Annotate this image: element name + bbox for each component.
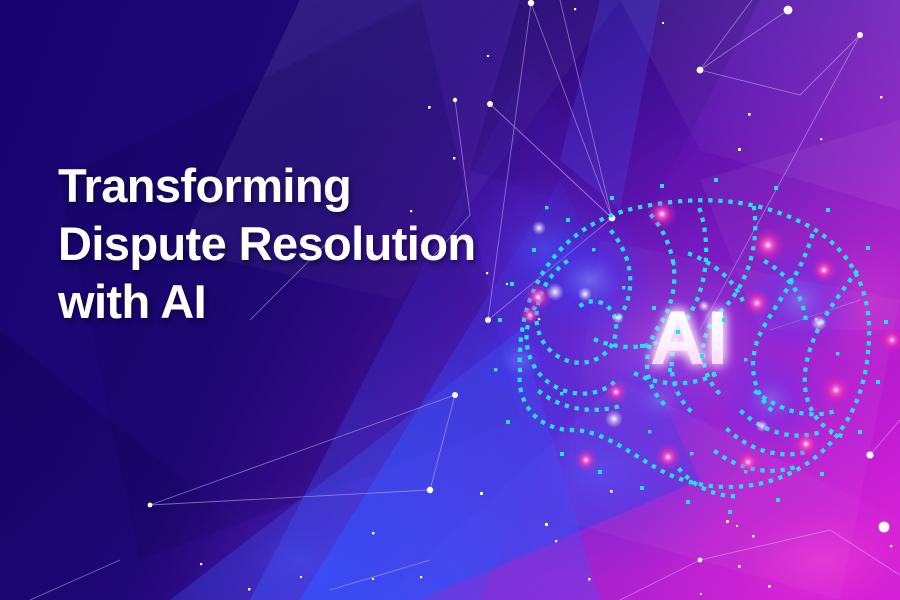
ai-wordmark: AI — [650, 296, 730, 381]
headline-line-1: Transforming — [58, 157, 578, 215]
page-title: Transforming Dispute Resolution with AI — [58, 157, 578, 331]
headline-line-2: Dispute Resolution — [58, 215, 578, 273]
headline-line-3: with AI — [58, 273, 578, 331]
ai-dispute-resolution-banner: AI Transforming Dispute Resolution with … — [0, 0, 900, 600]
